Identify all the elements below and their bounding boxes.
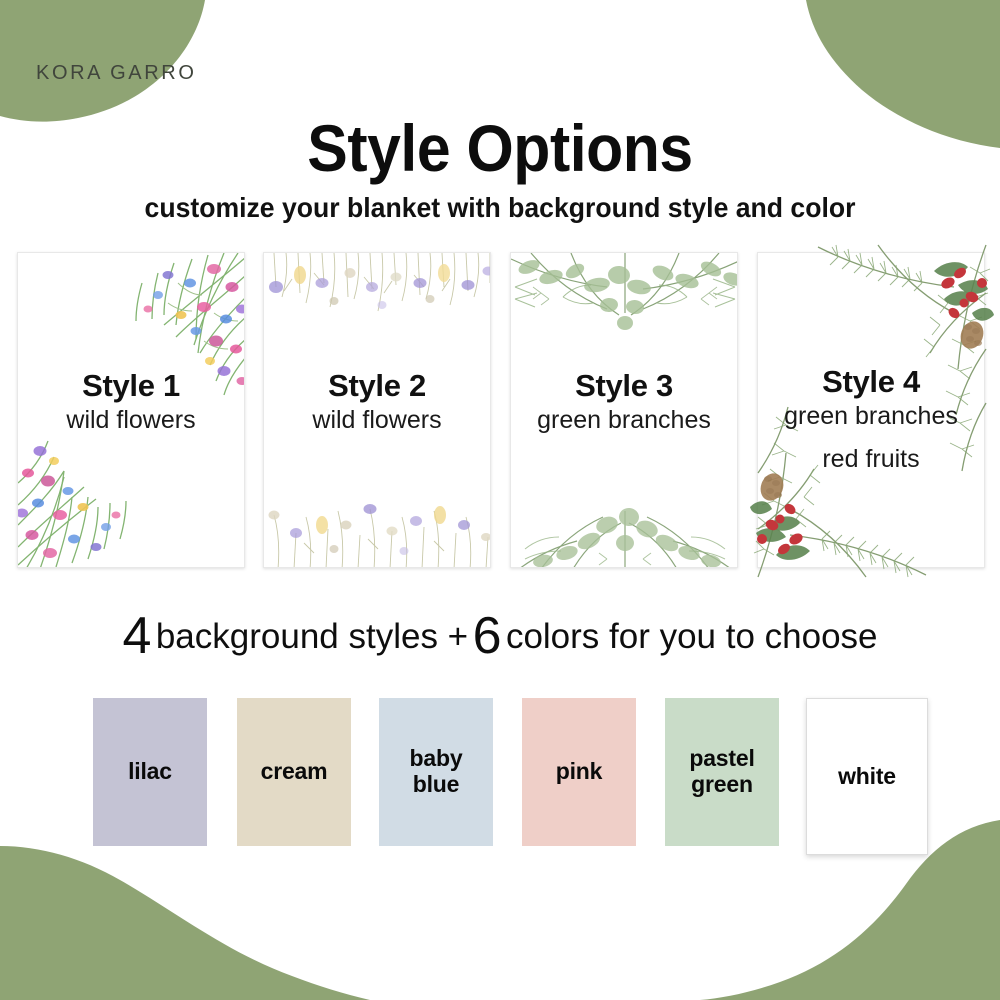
style-card-3-title: Style 3 [497, 369, 751, 402]
style-card-1[interactable]: Style 1 wild flowers [17, 252, 245, 568]
color-swatch-white[interactable]: white [806, 698, 928, 855]
style-card-2-subtitle: wild flowers [250, 405, 504, 436]
style-card-3-subtitle: green branches [497, 405, 751, 436]
color-swatches-row: lilac cream baby blue pink pastel green … [0, 698, 1000, 858]
color-swatch-baby-blue-label: baby blue [410, 746, 463, 798]
tagline: 4 background styles + 6 colors for you t… [0, 606, 1000, 666]
color-swatch-lilac-label: lilac [128, 759, 172, 785]
style-card-1-subtitle: wild flowers [4, 405, 258, 436]
color-swatch-cream-label: cream [261, 759, 328, 785]
corner-shape-top-left [0, 0, 205, 122]
color-swatch-cream[interactable]: cream [237, 698, 351, 846]
style-card-1-text: Style 1 wild flowers [4, 369, 258, 436]
style-card-2-text: Style 2 wild flowers [250, 369, 504, 436]
style-card-4-subtitle-2: red fruits [744, 444, 998, 475]
style-card-4[interactable]: Style 4 green branches red fruits [757, 252, 985, 568]
tagline-style-count: 4 [122, 607, 151, 665]
style-card-3[interactable]: Style 3 green branches [510, 252, 738, 568]
tagline-style-text: background styles + [156, 617, 468, 656]
color-swatch-white-label: white [838, 764, 896, 790]
color-swatch-lilac[interactable]: lilac [93, 698, 207, 846]
page-title: Style Options [40, 110, 960, 186]
corner-shape-bottom-left [0, 846, 370, 1000]
style-card-4-text: Style 4 green branches red fruits [744, 365, 998, 474]
style-cards-row: Style 1 wild flowers [0, 252, 1000, 568]
style-card-4-title: Style 4 [744, 365, 998, 398]
color-swatch-pastel-green[interactable]: pastel green [665, 698, 779, 846]
style-card-3-text: Style 3 green branches [497, 369, 751, 436]
style-card-2-title: Style 2 [250, 369, 504, 402]
tagline-color-text: colors for you to choose [506, 617, 878, 656]
color-swatch-pink-label: pink [556, 759, 602, 785]
style-card-4-subtitle: green branches [744, 401, 998, 432]
color-swatch-baby-blue[interactable]: baby blue [379, 698, 493, 846]
page-subtitle: customize your blanket with background s… [25, 192, 975, 224]
style-card-2[interactable]: Style 2 wild flowers [263, 252, 491, 568]
color-swatch-pastel-green-label: pastel green [689, 746, 754, 798]
brand-name: KORA GARRO [36, 62, 196, 85]
style-card-1-title: Style 1 [4, 369, 258, 402]
tagline-color-count: 6 [473, 607, 502, 665]
color-swatch-pink[interactable]: pink [522, 698, 636, 846]
